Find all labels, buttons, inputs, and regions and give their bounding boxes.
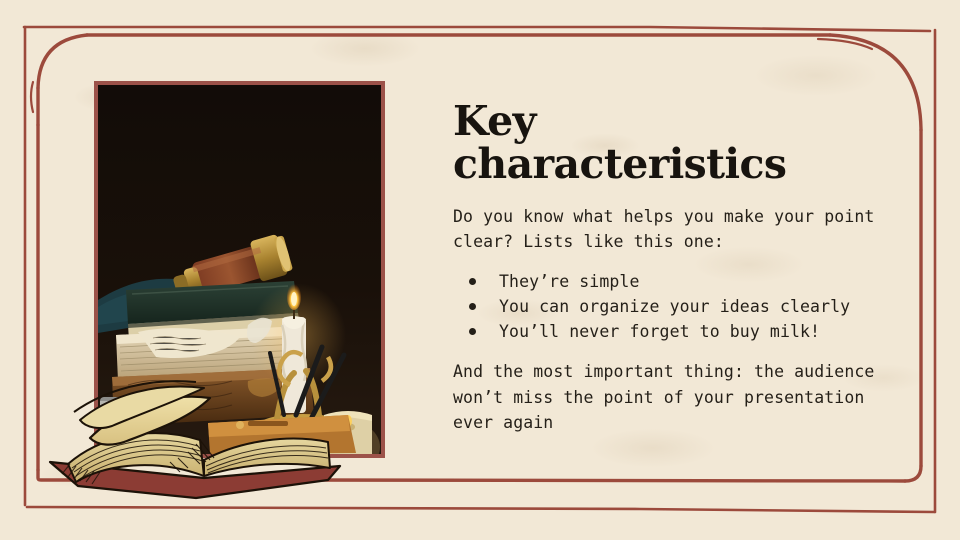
closing-paragraph: And the most important thing: the audien… — [453, 359, 878, 434]
list-item: They’re simple — [467, 269, 878, 294]
key-characteristics-list: They’re simple You can organize your ide… — [453, 269, 878, 344]
list-item: You’ll never forget to buy milk! — [467, 319, 878, 344]
text-column: Key characteristics Do you know what hel… — [453, 100, 878, 435]
list-item: You can organize your ideas clearly — [467, 294, 878, 319]
slide-canvas: Key characteristics Do you know what hel… — [0, 0, 960, 540]
page-title: Key characteristics — [453, 100, 878, 186]
still-life-photo — [94, 81, 385, 458]
photo-artwork — [98, 85, 381, 454]
intro-paragraph: Do you know what helps you make your poi… — [453, 204, 878, 254]
